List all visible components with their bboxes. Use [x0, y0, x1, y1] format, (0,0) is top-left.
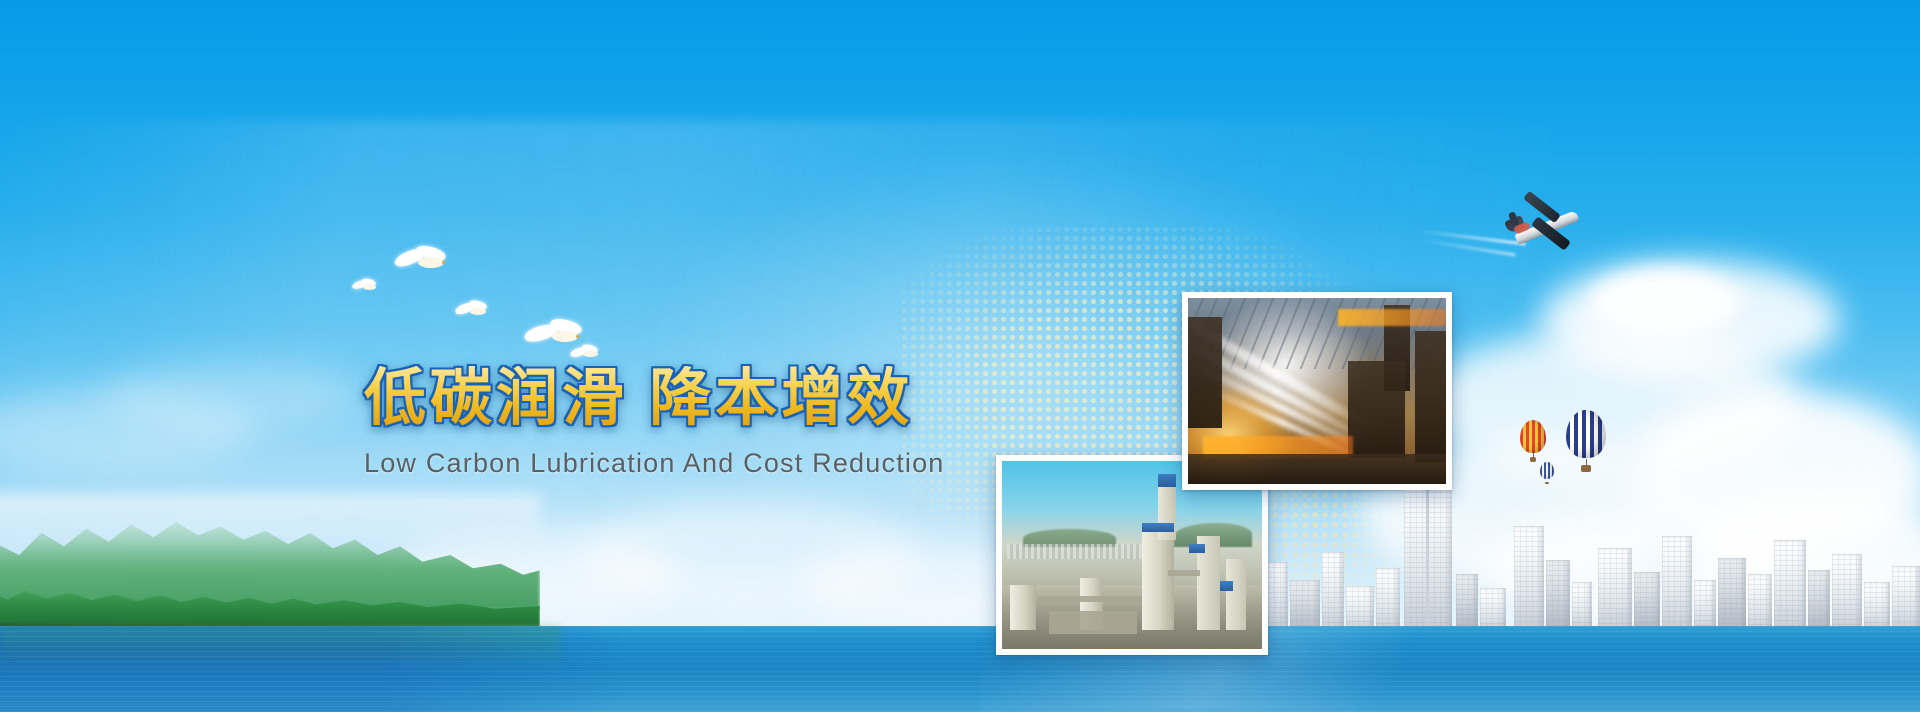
hero-banner: 低碳润滑 降本增效 Low Carbon Lubrication And Cos… — [0, 0, 1920, 712]
distant-city — [1007, 544, 1163, 559]
hot-air-balloon-orange — [1520, 420, 1546, 462]
plant-building — [1049, 611, 1137, 634]
building — [1290, 580, 1320, 632]
silo — [1142, 525, 1173, 630]
blue-equipment — [1142, 523, 1173, 532]
balloon-basket — [1545, 482, 1548, 484]
building — [1572, 582, 1592, 632]
dove-beak — [442, 261, 445, 264]
dove-icon — [352, 278, 378, 294]
dove-beak — [576, 335, 579, 338]
building — [1546, 560, 1570, 632]
photo-steel-mill — [1182, 292, 1452, 490]
building — [1718, 558, 1746, 632]
building — [1514, 526, 1544, 632]
photo-steel-mill-image — [1188, 298, 1446, 484]
dove-body — [363, 284, 376, 290]
blue-equipment — [1220, 581, 1233, 590]
building — [1864, 582, 1890, 632]
building — [1748, 574, 1772, 632]
banner-subtitle: Low Carbon Lubrication And Cost Reductio… — [364, 448, 984, 479]
airplane-icon — [1500, 196, 1590, 262]
mill-column — [1188, 317, 1222, 429]
plane-wing — [1523, 191, 1561, 224]
hot-air-balloon-blue-white — [1566, 410, 1606, 472]
balloon-envelope — [1566, 410, 1606, 458]
dove-body — [583, 351, 598, 357]
dove-body — [418, 257, 444, 268]
conveyor — [1038, 596, 1142, 602]
hot-metal-glow — [1338, 309, 1446, 326]
dove-body — [470, 308, 486, 315]
building — [1456, 574, 1478, 632]
building — [1662, 536, 1692, 632]
building — [1774, 540, 1806, 632]
dove-body — [552, 331, 578, 342]
building — [1832, 554, 1862, 632]
ladle-structure — [1348, 361, 1405, 458]
blue-equipment — [1158, 474, 1176, 487]
conveyor — [1168, 570, 1199, 576]
balloon-envelope — [1520, 420, 1546, 453]
silo — [1010, 585, 1036, 630]
building — [1694, 580, 1716, 632]
dove-icon — [455, 300, 489, 320]
building — [1808, 570, 1830, 632]
cloud-puff — [1590, 268, 1740, 338]
banner-headline: 低碳润滑 降本增效 — [364, 366, 984, 432]
building — [1598, 548, 1632, 632]
building — [1634, 572, 1660, 632]
banner-text-block: 低碳润滑 降本增效 Low Carbon Lubrication And Cos… — [364, 366, 984, 479]
mill-column — [1415, 331, 1446, 461]
building — [1892, 566, 1920, 632]
mill-floor — [1188, 454, 1446, 484]
dove-icon — [392, 245, 454, 279]
dove-icon — [570, 344, 600, 362]
balloon-basket — [1530, 457, 1536, 462]
balloon-basket — [1581, 465, 1591, 472]
mountain-haze — [0, 494, 540, 564]
building — [1322, 552, 1344, 632]
cloud-wisp — [100, 360, 360, 430]
tower — [1226, 559, 1247, 630]
building — [1376, 568, 1400, 632]
balloon-envelope — [1540, 462, 1554, 479]
hot-air-balloon-small — [1540, 462, 1554, 484]
blue-equipment — [1189, 544, 1205, 553]
